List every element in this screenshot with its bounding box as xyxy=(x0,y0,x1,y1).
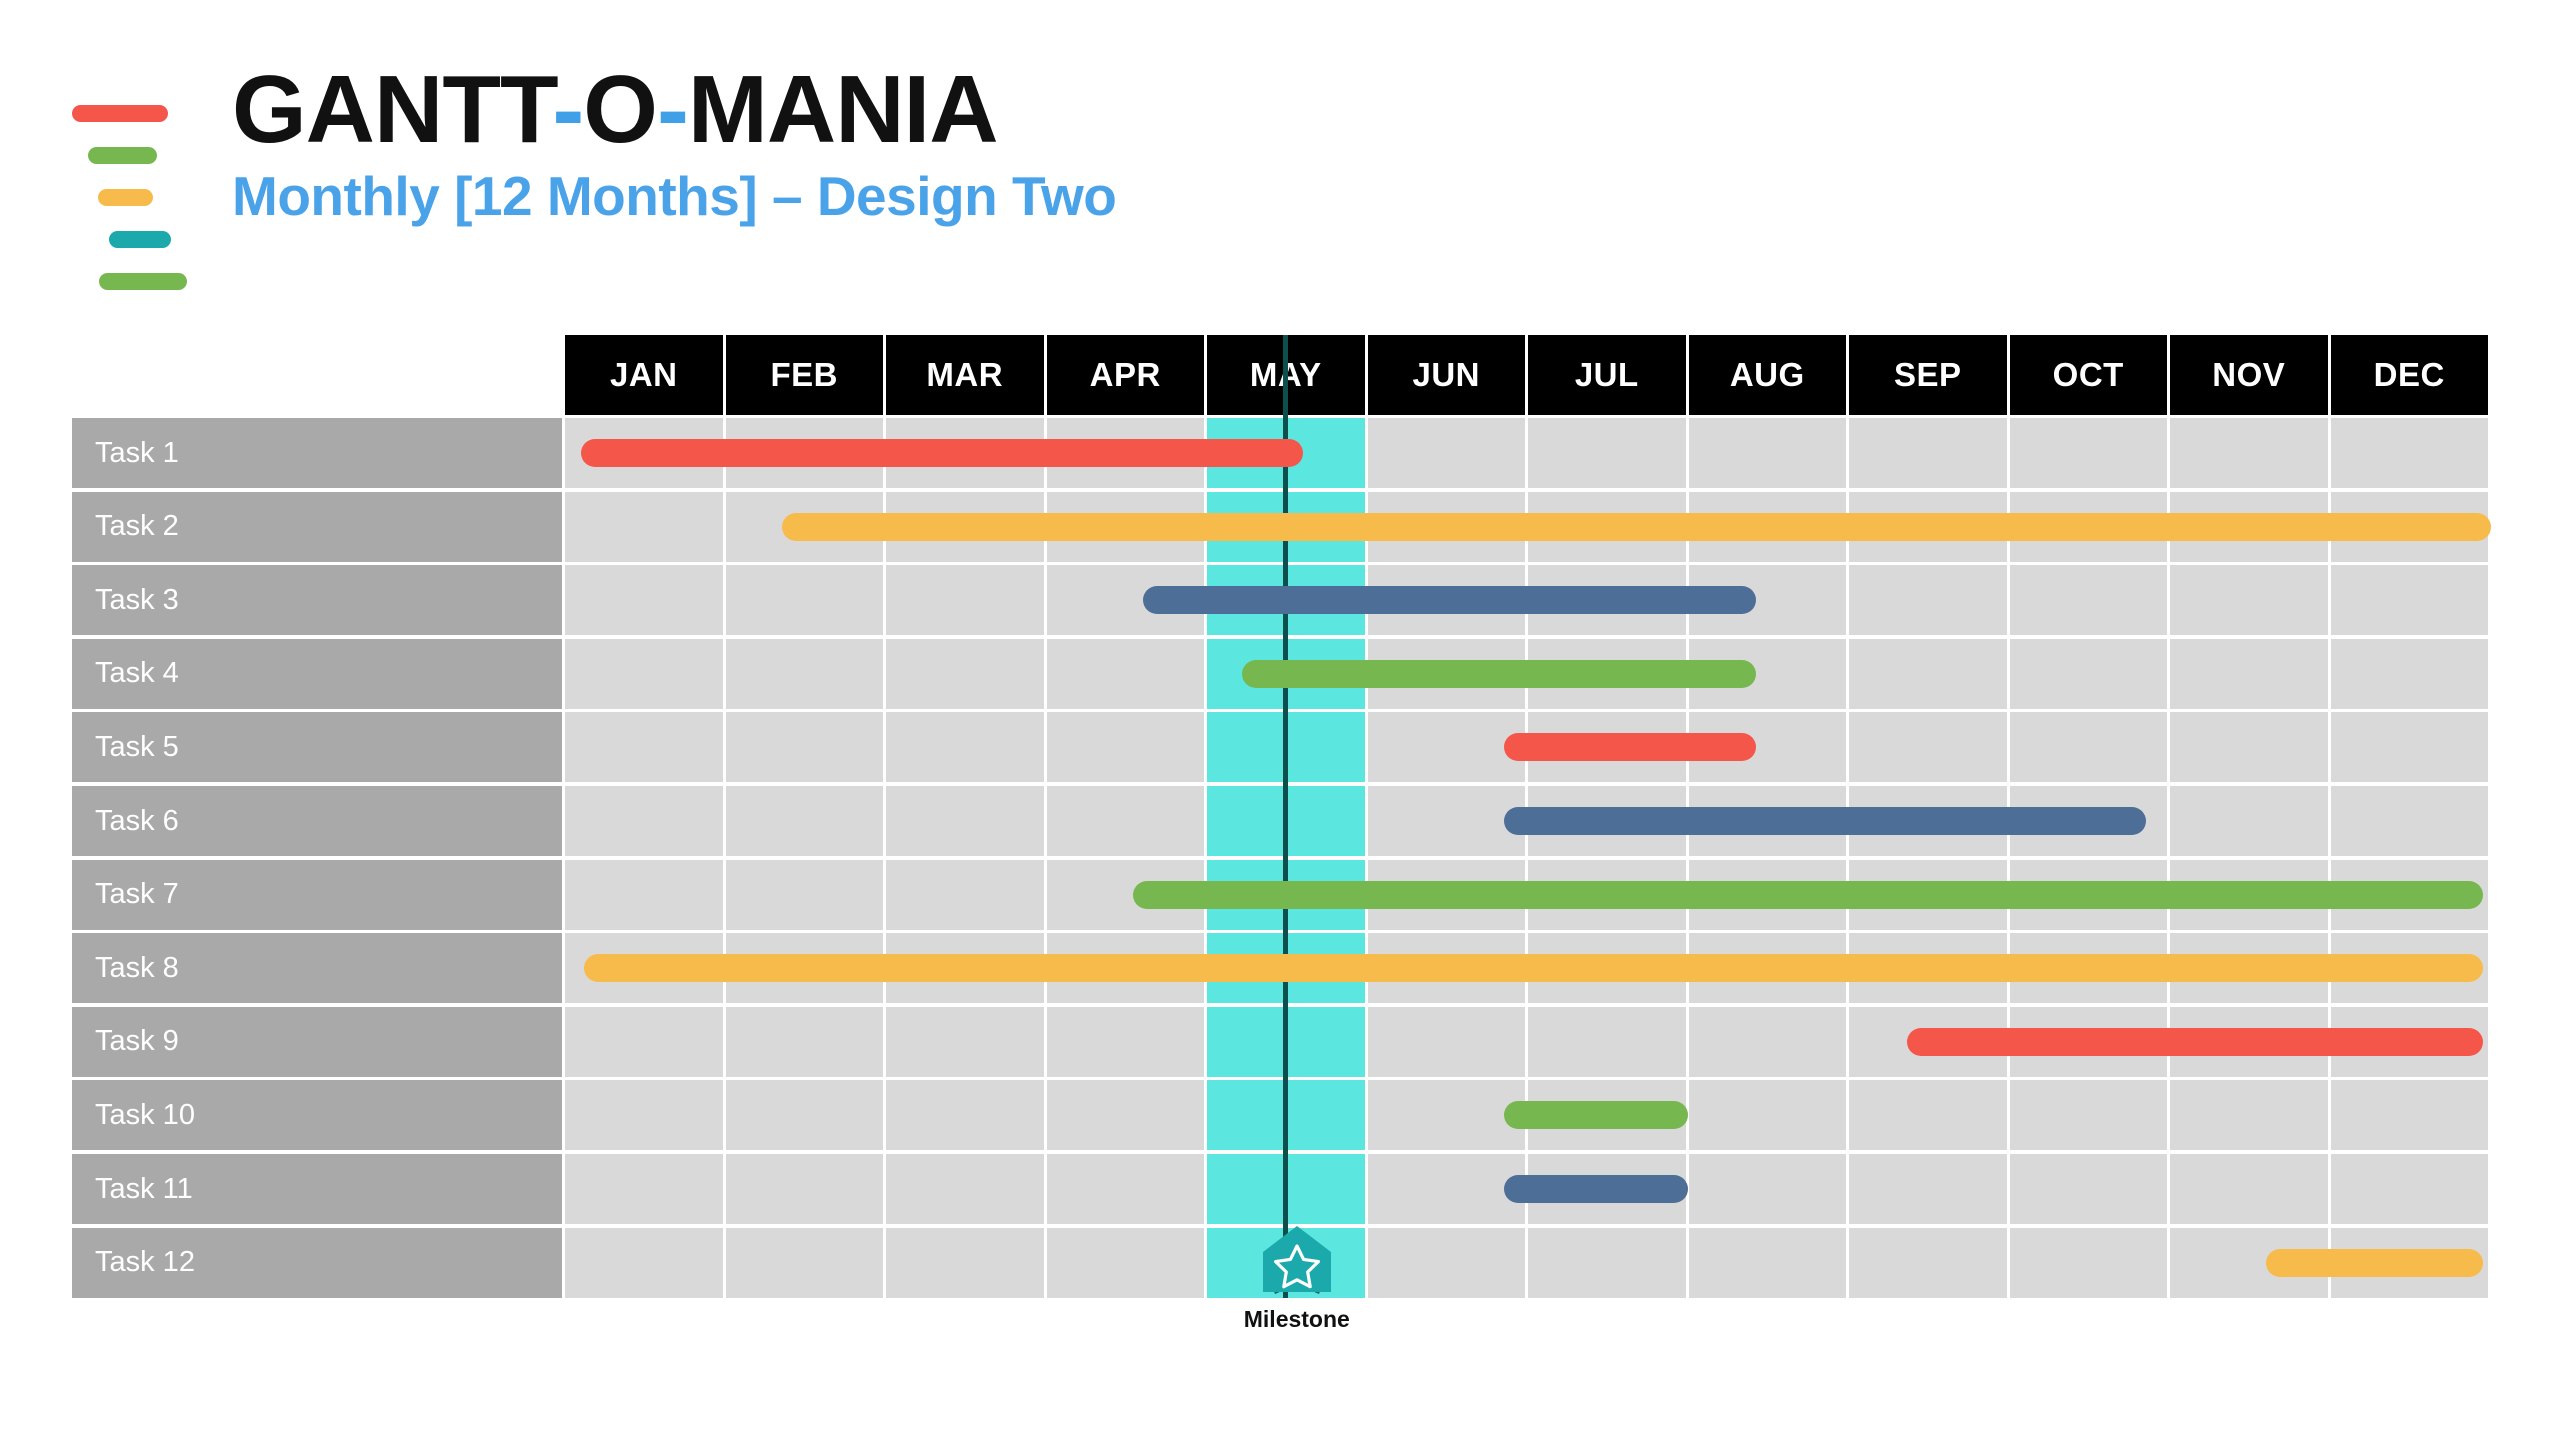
grid-cell[interactable] xyxy=(1689,1154,1847,1224)
grid-cell[interactable] xyxy=(2331,1154,2489,1224)
grid-cell[interactable] xyxy=(886,1007,1044,1077)
title-part-3: MANIA xyxy=(688,56,998,163)
month-header-feb[interactable]: FEB xyxy=(726,335,884,415)
month-header-aug[interactable]: AUG xyxy=(1689,335,1847,415)
task-label[interactable]: Task 11 xyxy=(72,1154,562,1224)
grid-cell[interactable] xyxy=(2170,712,2328,782)
table-row[interactable]: Task 2 xyxy=(72,492,2488,562)
task-label[interactable]: Task 1 xyxy=(72,418,562,488)
grid-cell[interactable] xyxy=(2010,1080,2168,1150)
logo-bar-1 xyxy=(72,105,168,122)
task-bar[interactable] xyxy=(1504,1175,1689,1203)
grid-cell[interactable] xyxy=(2331,565,2489,635)
month-header-oct[interactable]: OCT xyxy=(2010,335,2168,415)
milestone-label: Milestone xyxy=(1244,1306,1350,1333)
grid-cell[interactable] xyxy=(886,639,1044,709)
grid-cell[interactable] xyxy=(886,860,1044,930)
month-header-mar[interactable]: MAR xyxy=(886,335,1044,415)
grid-cell[interactable] xyxy=(1368,786,1526,856)
logo-bar-3 xyxy=(98,189,153,206)
grid-cell[interactable] xyxy=(1689,1007,1847,1077)
grid-cell[interactable] xyxy=(886,565,1044,635)
table-row[interactable]: Task 7 xyxy=(72,860,2488,930)
table-row[interactable]: Task 5 xyxy=(72,712,2488,782)
grid-cell[interactable] xyxy=(2331,786,2489,856)
grid-cell[interactable] xyxy=(1689,1228,1847,1298)
grid-cell[interactable] xyxy=(1849,639,2007,709)
grid-cell[interactable] xyxy=(726,639,884,709)
task-label[interactable]: Task 5 xyxy=(72,712,562,782)
grid-cell[interactable] xyxy=(1047,1228,1205,1298)
grid-cell[interactable] xyxy=(565,786,723,856)
task-label[interactable]: Task 8 xyxy=(72,933,562,1003)
task-bar[interactable] xyxy=(1504,1101,1689,1129)
milestone-marker[interactable]: Milestone xyxy=(1244,1226,1350,1333)
grid-cell[interactable] xyxy=(1849,1154,2007,1224)
grid-cell[interactable] xyxy=(1689,1080,1847,1150)
task-bar[interactable] xyxy=(1143,586,1756,614)
grid-cell[interactable] xyxy=(726,786,884,856)
grid-cell[interactable] xyxy=(565,1007,723,1077)
grid-cell[interactable] xyxy=(726,565,884,635)
table-row[interactable]: Task 10 xyxy=(72,1080,2488,1150)
table-row[interactable]: Task 8 xyxy=(72,933,2488,1003)
table-row[interactable]: Task 3 xyxy=(72,565,2488,635)
title-part-2: O xyxy=(583,56,657,163)
grid-cell[interactable] xyxy=(2010,639,2168,709)
grid-cell[interactable] xyxy=(1849,1080,2007,1150)
task-label[interactable]: Task 6 xyxy=(72,786,562,856)
grid-cell[interactable] xyxy=(2170,1154,2328,1224)
grid-cell[interactable] xyxy=(1047,1007,1205,1077)
grid-cell[interactable] xyxy=(565,1154,723,1224)
task-bar[interactable] xyxy=(1907,1028,2483,1056)
logo-bar-4 xyxy=(109,231,171,248)
task-label[interactable]: Task 4 xyxy=(72,639,562,709)
task-bar[interactable] xyxy=(2266,1249,2483,1277)
title-hyphen-2: - xyxy=(657,56,688,163)
grid-cell[interactable] xyxy=(2331,418,2489,488)
grid-cell[interactable] xyxy=(1368,1228,1526,1298)
title-block: GANTT-O-MANIA Monthly [12 Months] – Desi… xyxy=(232,60,1116,226)
grid-cell[interactable] xyxy=(1047,1154,1205,1224)
month-header-jan[interactable]: JAN xyxy=(565,335,723,415)
page-subtitle: Monthly [12 Months] – Design Two xyxy=(232,166,1116,227)
grid-cell[interactable] xyxy=(565,639,723,709)
task-label[interactable]: Task 12 xyxy=(72,1228,562,1298)
title-hyphen-1: - xyxy=(552,56,583,163)
today-marker-line xyxy=(1283,335,1288,1298)
task-label[interactable]: Task 10 xyxy=(72,1080,562,1150)
grid-cell[interactable] xyxy=(1368,1080,1526,1150)
grid-cell[interactable] xyxy=(1528,1228,1686,1298)
grid-cell[interactable] xyxy=(1047,1080,1205,1150)
grid-cell[interactable] xyxy=(886,1154,1044,1224)
grid-cell[interactable] xyxy=(1047,639,1205,709)
grid-cell[interactable] xyxy=(1849,418,2007,488)
grid-cell[interactable] xyxy=(886,786,1044,856)
month-header-nov[interactable]: NOV xyxy=(2170,335,2328,415)
grid-cell[interactable] xyxy=(2010,418,2168,488)
grid-cell[interactable] xyxy=(1849,712,2007,782)
grid-cell[interactable] xyxy=(1849,1228,2007,1298)
table-row[interactable]: Task 11 xyxy=(72,1154,2488,1224)
gantt-chart: JANFEBMARAPRMAYJUNJULAUGSEPOCTNOVDEC Tas… xyxy=(72,335,2488,1298)
month-header-jun[interactable]: JUN xyxy=(1368,335,1526,415)
logo-mark-icon xyxy=(72,105,200,265)
grid-cell[interactable] xyxy=(2010,712,2168,782)
grid-cell[interactable] xyxy=(726,1080,884,1150)
task-label[interactable]: Task 2 xyxy=(72,492,562,562)
grid-cell[interactable] xyxy=(2170,418,2328,488)
grid-cell[interactable] xyxy=(1528,418,1686,488)
logo-bar-2 xyxy=(88,147,157,164)
grid-cell[interactable] xyxy=(2170,565,2328,635)
grid-cell[interactable] xyxy=(565,712,723,782)
grid-cell[interactable] xyxy=(2010,1228,2168,1298)
task-bar[interactable] xyxy=(1504,733,1756,761)
grid-cell[interactable] xyxy=(726,1228,884,1298)
grid-cell[interactable] xyxy=(1689,418,1847,488)
grid-cell[interactable] xyxy=(1368,712,1526,782)
month-header-sep[interactable]: SEP xyxy=(1849,335,2007,415)
grid-cell[interactable] xyxy=(726,712,884,782)
task-bar[interactable] xyxy=(581,439,1303,467)
grid-cell[interactable] xyxy=(2331,639,2489,709)
grid-cell[interactable] xyxy=(565,860,723,930)
task-bar[interactable] xyxy=(1133,881,2483,909)
grid-cell[interactable] xyxy=(2170,786,2328,856)
task-bar[interactable] xyxy=(782,513,2491,541)
task-label[interactable]: Task 3 xyxy=(72,565,562,635)
grid-cell[interactable] xyxy=(2331,1080,2489,1150)
grid-cell[interactable] xyxy=(1047,712,1205,782)
grid-cell[interactable] xyxy=(726,860,884,930)
month-header-jul[interactable]: JUL xyxy=(1528,335,1686,415)
grid-cell[interactable] xyxy=(565,1080,723,1150)
grid-cell[interactable] xyxy=(1528,1007,1686,1077)
task-bar[interactable] xyxy=(584,954,2483,982)
task-bar[interactable] xyxy=(1504,807,2146,835)
task-label[interactable]: Task 9 xyxy=(72,1007,562,1077)
month-header-row: JANFEBMARAPRMAYJUNJULAUGSEPOCTNOVDEC xyxy=(72,335,2488,415)
grid-cell[interactable] xyxy=(1368,418,1526,488)
grid-cell[interactable] xyxy=(2170,639,2328,709)
table-row[interactable]: Task 9 xyxy=(72,1007,2488,1077)
grid-cell[interactable] xyxy=(2010,1154,2168,1224)
grid-cell[interactable] xyxy=(726,1007,884,1077)
logo-bar-5 xyxy=(99,273,187,290)
table-row[interactable]: Task 1 xyxy=(72,418,2488,488)
grid-cell[interactable] xyxy=(886,1080,1044,1150)
grid-cell[interactable] xyxy=(1368,1154,1526,1224)
milestone-pin-icon xyxy=(1255,1226,1339,1298)
title-part-1: GANTT xyxy=(232,56,552,163)
grid-cell[interactable] xyxy=(2010,565,2168,635)
month-header-apr[interactable]: APR xyxy=(1047,335,1205,415)
month-header-dec[interactable]: DEC xyxy=(2331,335,2489,415)
grid-cell[interactable] xyxy=(1047,786,1205,856)
grid-cell[interactable] xyxy=(2331,712,2489,782)
grid-cell[interactable] xyxy=(565,565,723,635)
grid-cell[interactable] xyxy=(2170,1080,2328,1150)
grid-cell[interactable] xyxy=(1849,565,2007,635)
brand-header: GANTT-O-MANIA Monthly [12 Months] – Desi… xyxy=(72,60,2472,275)
task-bar[interactable] xyxy=(1242,660,1756,688)
task-label[interactable]: Task 7 xyxy=(72,860,562,930)
grid-cell[interactable] xyxy=(726,1154,884,1224)
grid-cell[interactable] xyxy=(565,1228,723,1298)
gantt-grid-body: Task 1Task 2Task 3Task 4Task 5Task 6Task… xyxy=(72,418,2488,1298)
page-title: GANTT-O-MANIA xyxy=(232,60,1116,160)
table-row[interactable]: Task 6 xyxy=(72,786,2488,856)
grid-cell[interactable] xyxy=(1368,1007,1526,1077)
grid-cell[interactable] xyxy=(565,492,723,562)
grid-cell[interactable] xyxy=(886,1228,1044,1298)
grid-cell[interactable] xyxy=(886,712,1044,782)
table-row[interactable]: Task 4 xyxy=(72,639,2488,709)
